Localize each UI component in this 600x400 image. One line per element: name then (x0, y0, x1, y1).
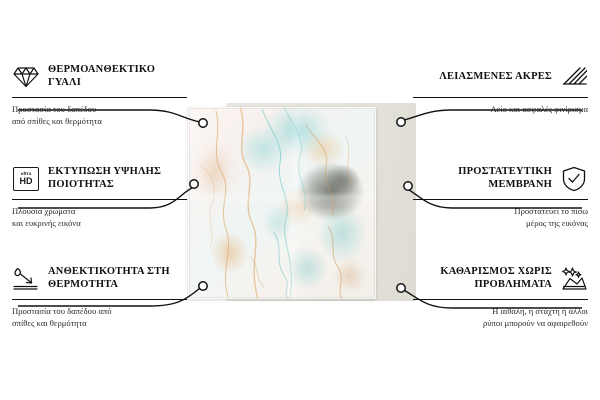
feature-description: Πλούσια χρώματακαι ευκρινής εικόνα (12, 205, 187, 230)
sparkle-clean-icon (560, 265, 588, 293)
ultra-hd-badge: ultra HD (13, 167, 39, 191)
feature-title: ΘΕΡΜΟΑΝΘΕΚΤΙΚΟ ΓΥΑΛΙ (48, 64, 187, 90)
feature-divider (413, 199, 588, 200)
feature-header: ΛΕΙΑΣΜΕΝΕΣ ΑΚΡΕΣ (413, 62, 588, 92)
feature-easy-cleaning: ΚΑΘΑΡΙΣΜΟΣ ΧΩΡΙΣ ΠΡΟΒΛΗΜΑΤΑ Η αιθάλη, η … (413, 264, 588, 330)
feature-header: ultra HD ΕΚΤΥΠΩΣΗ ΥΨΗΛΗΣ ΠΟΙΟΤΗΤΑΣ (12, 164, 187, 194)
feature-header: ΠΡΟΣΤΑΤΕΥΤΙΚΗ ΜΕΜΒΡΑΝΗ (413, 164, 588, 194)
feature-polished-edges: ΛΕΙΑΣΜΕΝΕΣ ΑΚΡΕΣ Λείο και ασφαλές φινίρι… (413, 62, 588, 115)
feature-title: ΠΡΟΣΤΑΤΕΥΤΙΚΗ ΜΕΜΒΡΑΝΗ (413, 166, 552, 192)
feature-title: ΕΚΤΥΠΩΣΗ ΥΨΗΛΗΣ ΠΟΙΟΤΗΤΑΣ (48, 166, 187, 192)
shield-check-icon (560, 165, 588, 193)
feature-description: Προστατεύει το πίσωμέρος της εικόνας (413, 205, 588, 230)
feature-description: Προστασία του δαπέδουαπό σπίθες και θερμ… (12, 103, 187, 128)
feature-header: ΚΑΘΑΡΙΣΜΟΣ ΧΩΡΙΣ ΠΡΟΒΛΗΜΑΤΑ (413, 264, 588, 294)
feature-description: Λείο και ασφαλές φινίρισμα (413, 103, 588, 115)
feature-description: Προστασία του δαπέδου απόσπίθες και θερμ… (12, 305, 187, 330)
feature-description: Η αιθάλη, η στάχτη ή άλλοιρύποι μπορούν … (413, 305, 588, 330)
product-image (180, 105, 420, 305)
feature-heat-durability: ΑΝΘΕΚΤΙΚΟΤΗΤΑ ΣΤΗ ΘΕΡΜΟΤΗΤΑ Προστασία το… (12, 264, 187, 330)
ultra-hd-badge-large: HD (20, 177, 33, 186)
feature-title: ΛΕΙΑΣΜΕΝΕΣ ΑΚΡΕΣ (439, 71, 552, 84)
feature-heat-resistant-glass: ΘΕΡΜΟΑΝΘΕΚΤΙΚΟ ΓΥΑΛΙ Προστασία του δαπέδ… (12, 62, 187, 128)
feature-header: ΘΕΡΜΟΑΝΘΕΚΤΙΚΟ ΓΥΑΛΙ (12, 62, 187, 92)
feature-title: ΑΝΘΕΚΤΙΚΟΤΗΤΑ ΣΤΗ ΘΕΡΜΟΤΗΤΑ (48, 266, 187, 292)
diamond-icon (12, 63, 40, 91)
feature-divider (413, 97, 588, 98)
feature-divider (12, 97, 187, 98)
feature-divider (12, 299, 187, 300)
feature-protective-film: ΠΡΟΣΤΑΤΕΥΤΙΚΗ ΜΕΜΒΡΑΝΗ Προστατεύει το πί… (413, 164, 588, 230)
marble-veins (188, 107, 376, 299)
heat-resistance-icon (12, 265, 40, 293)
feature-title: ΚΑΘΑΡΙΣΜΟΣ ΧΩΡΙΣ ΠΡΟΒΛΗΜΑΤΑ (413, 266, 552, 292)
feature-divider (12, 199, 187, 200)
ultra-hd-icon: ultra HD (12, 165, 40, 193)
polished-edges-icon (560, 63, 588, 91)
feature-header: ΑΝΘΕΚΤΙΚΟΤΗΤΑ ΣΤΗ ΘΕΡΜΟΤΗΤΑ (12, 264, 187, 294)
infographic-root: ΘΕΡΜΟΑΝΘΕΚΤΙΚΟ ΓΥΑΛΙ Προστασία του δαπέδ… (0, 0, 600, 400)
feature-high-quality-print: ultra HD ΕΚΤΥΠΩΣΗ ΥΨΗΛΗΣ ΠΟΙΟΤΗΤΑΣ Πλούσ… (12, 164, 187, 230)
feature-divider (413, 299, 588, 300)
product-glass-panel (188, 107, 376, 299)
